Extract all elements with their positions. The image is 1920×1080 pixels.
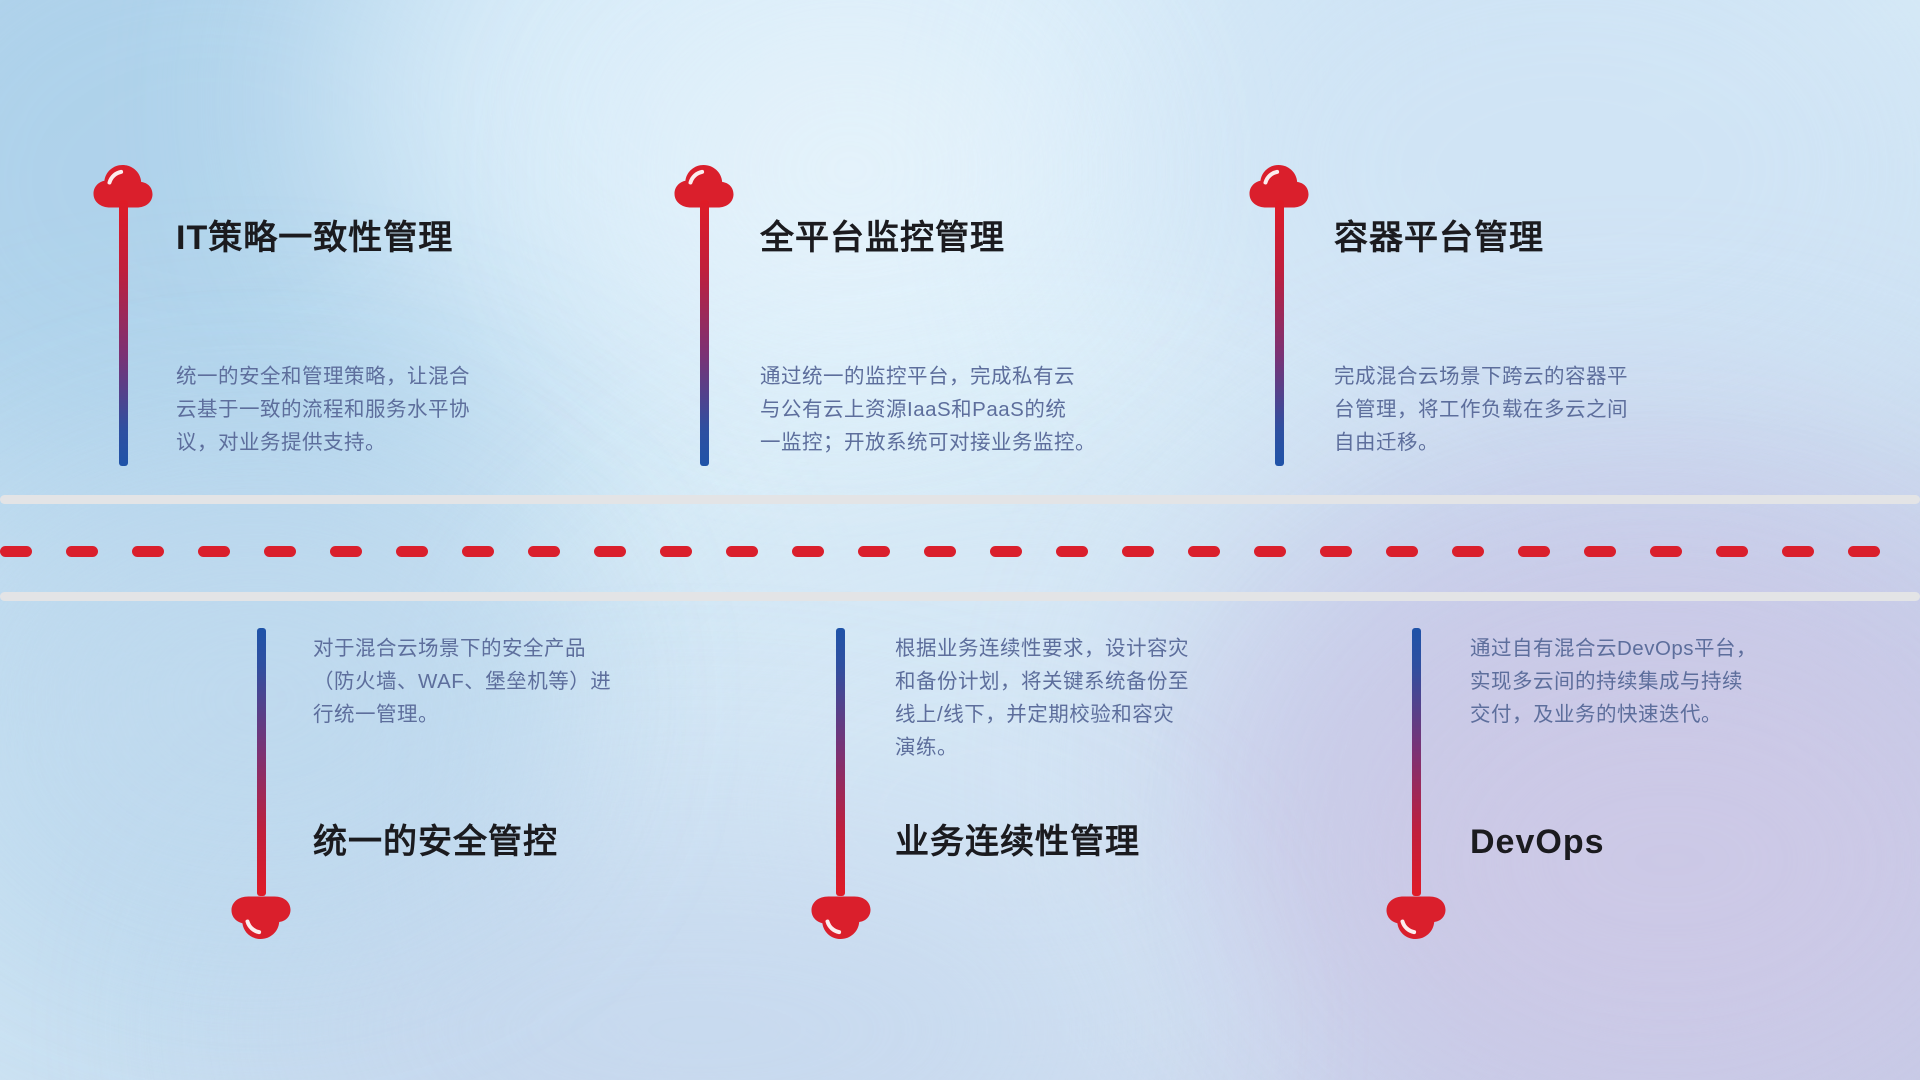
dash-segment <box>1452 546 1484 557</box>
dash-segment <box>1254 546 1286 557</box>
cloud-icon <box>810 896 872 942</box>
dash-segment <box>198 546 230 557</box>
card-title: IT策略一致性管理 <box>176 218 453 259</box>
dash-segment <box>330 546 362 557</box>
timeline-pin <box>119 200 128 466</box>
cloud-icon <box>1385 896 1447 942</box>
card-body: 通过统一的监控平台，完成私有云 与公有云上资源IaaS和PaaS的统 一监控；开… <box>760 360 1210 459</box>
dash-segment <box>462 546 494 557</box>
dash-segment <box>0 546 32 557</box>
timeline-pin <box>257 628 266 896</box>
dash-segment <box>858 546 890 557</box>
dash-segment <box>726 546 758 557</box>
dash-segment <box>1122 546 1154 557</box>
dash-segment <box>66 546 98 557</box>
timeline-pin <box>836 628 845 896</box>
dash-segment <box>1518 546 1550 557</box>
infographic-canvas: IT策略一致性管理 统一的安全和管理策略，让混合 云基于一致的流程和服务水平协 … <box>0 0 1920 1080</box>
card-title: 全平台监控管理 <box>760 218 1005 259</box>
dash-segment <box>792 546 824 557</box>
dash-segment <box>594 546 626 557</box>
dash-segment <box>924 546 956 557</box>
dash-segment <box>990 546 1022 557</box>
dash-segment <box>1386 546 1418 557</box>
card-body: 完成混合云场景下跨云的容器平 台管理，将工作负载在多云之间 自由迁移。 <box>1334 360 1784 459</box>
dash-segment <box>1650 546 1682 557</box>
cloud-icon <box>230 896 292 942</box>
card-body: 统一的安全和管理策略，让混合 云基于一致的流程和服务水平协 议，对业务提供支持。 <box>176 360 606 459</box>
dash-segment <box>264 546 296 557</box>
dash-segment <box>1782 546 1814 557</box>
dash-segment <box>1056 546 1088 557</box>
dash-segment <box>528 546 560 557</box>
divider-line-bottom <box>0 592 1920 601</box>
card-title: 业务连续性管理 <box>895 822 1140 863</box>
card-body: 根据业务连续性要求，设计容灾 和备份计划，将关键系统备份至 线上/线下，并定期校… <box>895 632 1335 764</box>
card-body: 通过自有混合云DevOps平台， 实现多云间的持续集成与持续 交付，及业务的快速… <box>1470 632 1900 731</box>
timeline-pin <box>700 200 709 466</box>
divider-line-top <box>0 495 1920 504</box>
timeline-pin <box>1275 200 1284 466</box>
card-title: 统一的安全管控 <box>313 822 558 863</box>
dash-segment <box>396 546 428 557</box>
dash-segment <box>1848 546 1880 557</box>
card-title: DevOps <box>1470 822 1605 863</box>
dash-segment <box>660 546 692 557</box>
dash-segment <box>1716 546 1748 557</box>
divider-dashed-line <box>0 546 1920 557</box>
dash-segment <box>132 546 164 557</box>
card-body: 对于混合云场景下的安全产品 （防火墙、WAF、堡垒机等）进 行统一管理。 <box>313 632 753 731</box>
dash-segment <box>1320 546 1352 557</box>
timeline-pin <box>1412 628 1421 896</box>
card-title: 容器平台管理 <box>1334 218 1544 259</box>
dash-segment <box>1584 546 1616 557</box>
dash-segment <box>1188 546 1220 557</box>
